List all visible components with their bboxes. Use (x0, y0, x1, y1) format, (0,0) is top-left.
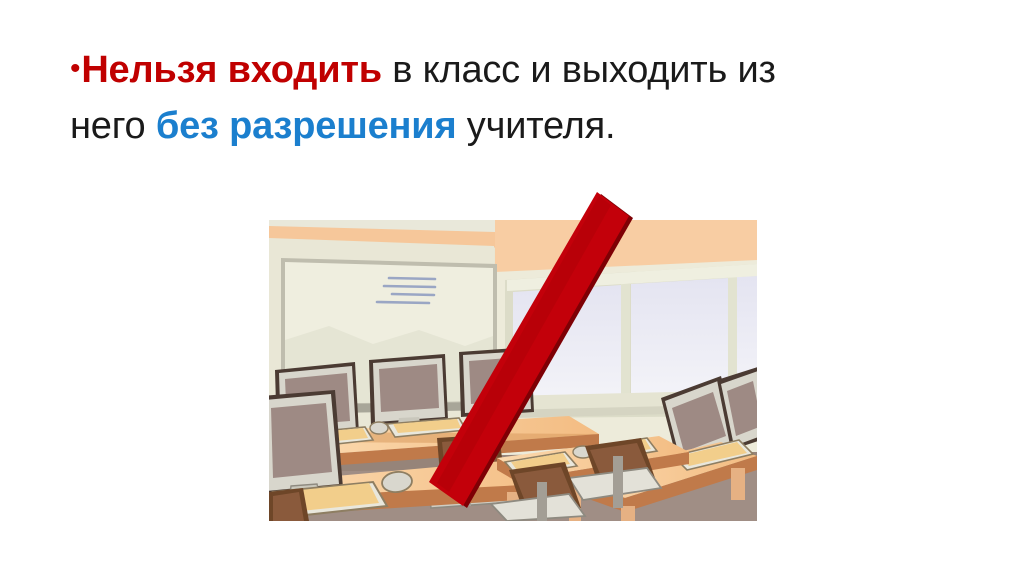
monitor-back-2 (369, 354, 448, 429)
monitor-stand-3 (485, 409, 509, 421)
bullet-line-1: •Нельзя входить в класс и выходить из (70, 42, 920, 98)
monitor-screen-2 (379, 364, 439, 412)
right-desk-leg-1 (621, 506, 635, 521)
line-2-before-text: него (70, 105, 156, 147)
emphasis-red-phrase: Нельзя входить (81, 49, 382, 91)
line-1-rest-text: в класс и выходить из (382, 49, 776, 91)
chair-post-f1 (613, 456, 623, 508)
chair-post-f2 (537, 482, 547, 521)
bullet-marker-icon: • (70, 52, 80, 85)
monitor-screen-3 (469, 357, 525, 404)
mouse-back-2 (468, 413, 486, 425)
classroom-illustration (269, 220, 757, 521)
board-line-1 (389, 278, 435, 279)
board-line-3 (392, 294, 434, 295)
board-line-4 (377, 302, 429, 303)
slide-body-text: •Нельзя входить в класс и выходить из не… (70, 42, 920, 154)
bullet-line-2: него без разрешения учителя. (70, 98, 920, 154)
monitor-back-3 (459, 347, 534, 421)
board-line-2 (384, 286, 435, 287)
chair-foreground-left (269, 488, 309, 521)
window-pane-2 (631, 278, 729, 395)
classroom-scene (269, 220, 757, 521)
scene-contents (269, 220, 757, 521)
monitor-screen-ml (271, 403, 332, 478)
right-desk-leg-2 (731, 468, 745, 500)
classroom-artwork (269, 220, 757, 521)
line-2-after-text: учителя. (456, 105, 615, 147)
mouse-back-1 (370, 422, 388, 434)
chair-back-fg (273, 492, 304, 521)
window-mullion-1 (621, 284, 630, 396)
emphasis-blue-phrase: без разрешения (156, 105, 457, 147)
